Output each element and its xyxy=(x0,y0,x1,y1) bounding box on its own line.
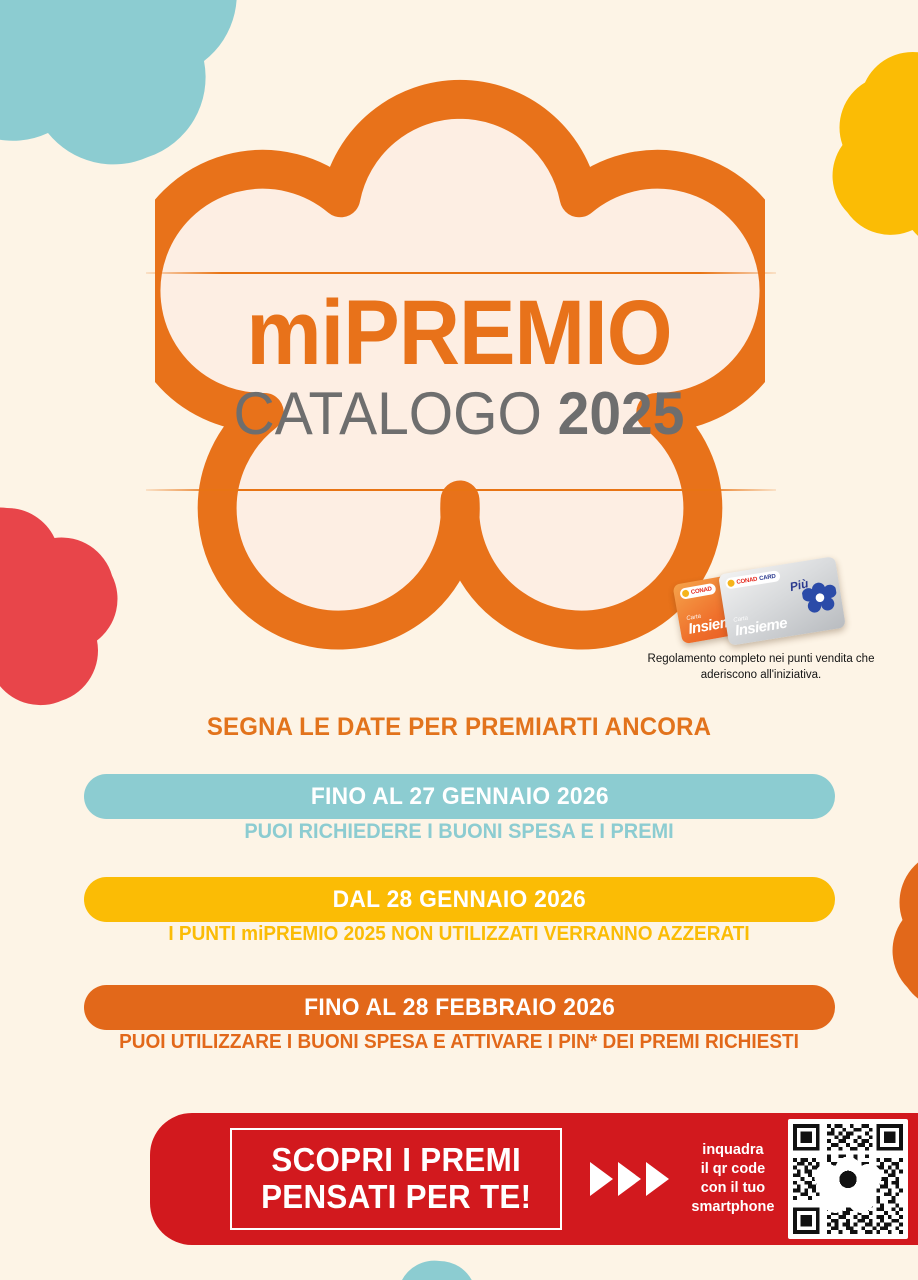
triangle-right-icon-2 xyxy=(618,1162,641,1196)
cta-button[interactable]: SCOPRI I PREMI PENSATI PER TE! xyxy=(230,1128,562,1230)
date-band-3-title: FINO AL 28 FEBBRAIO 2026 xyxy=(304,994,615,1022)
qr-instruction-line-1: inquadra xyxy=(691,1141,774,1160)
date-band-3-subtitle: PUOI UTILIZZARE I BUONI SPESA E ATTIVARE… xyxy=(23,1031,895,1054)
section-heading: SEGNA LE DATE PER PREMIARTI ANCORA xyxy=(18,713,899,742)
page-title: miPREMIO CATALOGO 2025 xyxy=(0,288,918,444)
poster-canvas: miPREMIO CATALOGO 2025 CONAD Carta Insie… xyxy=(0,0,918,1280)
triangle-right-icon-3 xyxy=(646,1162,669,1196)
conad-flower-icon-card xyxy=(801,579,840,618)
divider-bottom xyxy=(146,489,776,491)
qr-instruction-line-2: il qr code xyxy=(691,1160,774,1179)
cta-line-1: SCOPRI I PREMI xyxy=(261,1142,531,1179)
date-band-2-title: DAL 28 GENNAIO 2026 xyxy=(333,886,586,914)
date-band-1-title: FINO AL 27 GENNAIO 2026 xyxy=(310,783,608,811)
date-band-2: DAL 28 GENNAIO 2026 xyxy=(84,877,835,922)
logo-catalogo-word: CATALOGO xyxy=(234,380,542,447)
divider-top xyxy=(146,272,776,274)
decor-flower-red-left xyxy=(0,488,132,748)
date-band-1: FINO AL 27 GENNAIO 2026 xyxy=(84,774,835,819)
decor-flower-teal-bottom xyxy=(352,1248,527,1280)
qr-instruction-line-3: con il tuo xyxy=(691,1179,774,1198)
conad-dot-icon-back xyxy=(727,579,735,587)
date-band-3: FINO AL 28 FEBBRAIO 2026 xyxy=(84,985,835,1030)
qr-code-icon[interactable] xyxy=(788,1119,908,1239)
cta-banner[interactable]: SCOPRI I PREMI PENSATI PER TE! inquadra … xyxy=(150,1113,918,1245)
qr-instruction-line-4: smartphone xyxy=(691,1198,774,1217)
conad-logo-back: CONAD CARD xyxy=(725,570,781,589)
conad-dot-icon xyxy=(682,589,690,597)
logo-mipremio: miPREMIO xyxy=(37,288,882,378)
decor-flower-yellow-topright xyxy=(795,35,918,290)
logo-year: 2025 xyxy=(558,380,685,447)
triangle-right-icon-1 xyxy=(590,1162,613,1196)
arrows-group xyxy=(590,1162,669,1196)
logo-main: PREMIO xyxy=(343,282,671,384)
conad-brand-back: CONAD xyxy=(736,576,758,585)
date-band-1-subtitle: PUOI RICHIEDERE I BUONI SPESA E I PREMI xyxy=(23,820,895,844)
card-conad-card-piu: CONAD CARD Carta Insieme Più xyxy=(718,556,846,646)
conad-brand-suffix: CARD xyxy=(759,573,776,582)
card-back-label: Carta Insieme xyxy=(733,610,788,639)
qr-instruction: inquadra il qr code con il tuo smartphon… xyxy=(691,1141,774,1218)
conad-logo-front: CONAD xyxy=(679,583,716,600)
date-band-2-subtitle: I PUNTI miPREMIO 2025 NON UTILIZZATI VER… xyxy=(23,923,895,946)
conad-brand-front: CONAD xyxy=(691,586,713,596)
loyalty-cards-image: CONAD Carta Insieme CONAD CARD Carta Ins… xyxy=(665,555,860,650)
logo-prefix: mi xyxy=(246,282,343,384)
logo-subtitle: CATALOGO 2025 xyxy=(23,384,895,444)
fineprint-text: Regolamento completo nei punti vendita c… xyxy=(620,652,902,683)
cta-line-2: PENSATI PER TE! xyxy=(261,1179,531,1216)
